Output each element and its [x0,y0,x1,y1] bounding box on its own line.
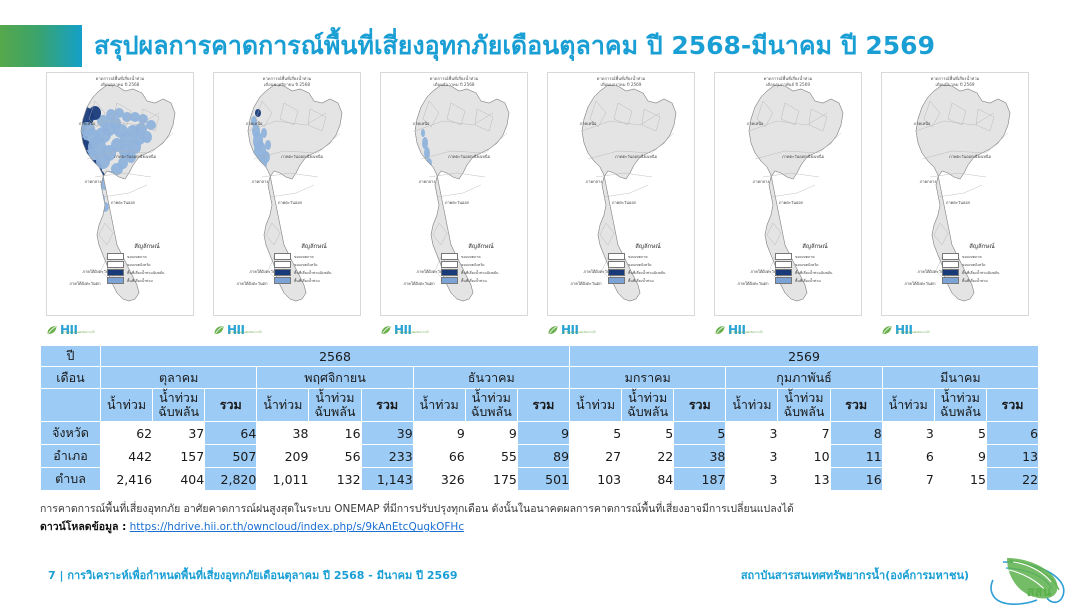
map-legend-row-1: ขอบเขตภาค [441,253,521,260]
map-legend-label-3: พื้นที่เสี่ยงน้ำท่วมฉับพลัน [962,270,999,276]
svg-text:ภาคใต้ฝั่งตะวันตก: ภาคใต้ฝั่งตะวันตก [236,281,268,286]
table-metric-header-1: น้ำท่วม [101,389,153,422]
map-legend-swatch-4 [775,277,792,284]
table-cell-r1-c8: 9 [465,422,517,445]
map-title-line1-6: คาดการณ์พื้นที่เสี่ยงน้ำท่วม [931,76,980,82]
hii-leaf-icon-2 [213,324,225,336]
hii-logo-5: HII สถาบันสารสนเทศทรัพยากรน้ำ [714,324,745,336]
map-legend-swatch-4 [107,277,124,284]
map-title-line1-3: คาดการณ์พื้นที่เสี่ยงน้ำท่วม [430,76,479,82]
map-legend-swatch-3 [274,269,291,276]
map-legend-label-4: พื้นที่เสี่ยงน้ำท่วม [127,278,153,284]
table-cell-r1-c10: 5 [570,422,622,445]
table-cell-r3-c16: 7 [882,468,934,491]
table-cell-r3-c12: 187 [674,468,726,491]
table-cell-r1-c11: 5 [622,422,674,445]
map-legend-label-3: พื้นที่เสี่ยงน้ำท่วมฉับพลัน [795,270,832,276]
map-title-line2-1: เดือนตุลาคม ปี 2568 [96,82,145,88]
table-metric-header-9: รวม [517,389,569,422]
hii-logo-1: HII สถาบันสารสนเทศทรัพยากรน้ำ [46,324,77,336]
table-cell-r1-c6: 39 [361,422,413,445]
hii-leaf-icon-3 [380,324,392,336]
map-title-line2-4: เดือนมกราคม ปี 2569 [597,82,646,88]
map-legend-label-2: ขอบเขตจังหวัด [294,262,318,268]
map-legend-title-4: สัญลักษณ์ [608,241,688,251]
map-legend-label-2: ขอบเขตจังหวัด [628,262,652,268]
table-cell-r3-c5: 132 [309,468,361,491]
table-metric-header-3: รวม [205,389,257,422]
map-panel-strip: ภาคเหนือภาคตะวันออกเฉียงเหนือภาคกลางภาคต… [38,70,1040,342]
table-metric-header-14: น้ำท่วมฉับพลัน [778,389,830,422]
table-cell-r2-c2: 157 [153,445,205,468]
map-legend-3: สัญลักษณ์ ขอบเขตภาค ขอบเขตจังหวัด พื้นที… [441,241,521,285]
table-cell-r1-c9: 9 [517,422,569,445]
table-row-label-3: ตำบล [41,468,101,491]
table-row-label-1: จังหวัด [41,422,101,445]
svg-text:ภาคเหนือ: ภาคเหนือ [914,121,931,126]
map-legend-label-4: พื้นที่เสี่ยงน้ำท่วม [962,278,988,284]
map-legend-label-2: ขอบเขตจังหวัด [795,262,819,268]
table-year-header-2569: 2569 [570,346,1039,367]
map-legend-row-3: พื้นที่เสี่ยงน้ำท่วมฉับพลัน [107,269,187,276]
map-legend-swatch-4 [274,277,291,284]
hii-leaf-icon-4 [547,324,559,336]
table-month-header-2: พฤศจิกายน [257,367,413,389]
table-year-header-2568: 2568 [101,346,570,367]
table-cell-r2-c7: 66 [413,445,465,468]
map-title-line1-1: คาดการณ์พื้นที่เสี่ยงน้ำท่วม [96,76,145,82]
map-legend-swatch-1 [608,253,625,260]
table-metric-header-6: รวม [361,389,413,422]
table-cell-r3-c10: 103 [570,468,622,491]
table-metric-header-13: น้ำท่วม [726,389,778,422]
map-legend-row-2: ขอบเขตจังหวัด [775,261,855,268]
map-legend-label-3: พื้นที่เสี่ยงน้ำท่วมฉับพลัน [628,270,665,276]
table-metric-header-4: น้ำท่วม [257,389,309,422]
map-legend-swatch-2 [107,261,124,268]
svg-text:ภาคตะวันออก: ภาคตะวันออก [111,200,136,205]
map-panel-3: ภาคเหนือภาคตะวันออกเฉียงเหนือภาคกลางภาคต… [372,70,532,342]
map-frame-4: ภาคเหนือภาคตะวันออกเฉียงเหนือภาคกลางภาคต… [547,72,695,316]
remark-text: การคาดการณ์พื้นที่เสี่ยงอุทกภัย อาศัยคาด… [40,500,794,517]
map-title-4: คาดการณ์พื้นที่เสี่ยงน้ำท่วม เดือนมกราคม… [597,76,646,87]
table-month-header-4: มกราคม [570,367,726,389]
map-legend-label-3: พื้นที่เสี่ยงน้ำท่วมฉับพลัน [294,270,331,276]
table-cell-r2-c10: 27 [570,445,622,468]
map-legend-swatch-2 [441,261,458,268]
map-legend-row-4: พื้นที่เสี่ยงน้ำท่วม [775,277,855,284]
table-cell-r2-c13: 3 [726,445,778,468]
table-month-header-5: กุมภาพันธ์ [726,367,882,389]
table-cell-r2-c4: 209 [257,445,309,468]
table-cell-r2-c17: 9 [934,445,986,468]
map-legend-swatch-3 [107,269,124,276]
svg-text:ภาคตะวันออกเฉียงเหนือ: ภาคตะวันออกเฉียงเหนือ [448,154,491,159]
table-cell-r1-c5: 16 [309,422,361,445]
map-legend-swatch-3 [608,269,625,276]
table-metric-header-8: น้ำท่วมฉับพลัน [465,389,517,422]
table-cell-r3-c14: 13 [778,468,830,491]
map-title-3: คาดการณ์พื้นที่เสี่ยงน้ำท่วม เดือนธันวาค… [430,76,479,87]
map-title-line1-2: คาดการณ์พื้นที่เสี่ยงน้ำท่วม [263,76,312,82]
table-metric-header-10: น้ำท่วม [570,389,622,422]
map-legend-swatch-2 [775,261,792,268]
map-legend-swatch-1 [441,253,458,260]
table-cell-r1-c18: 6 [986,422,1038,445]
map-legend-swatch-2 [608,261,625,268]
table-cell-r3-c6: 1,143 [361,468,413,491]
table-corner-blank [41,389,101,422]
svg-text:ภาคกลาง: ภาคกลาง [419,179,436,184]
map-legend-swatch-1 [107,253,124,260]
map-legend-row-4: พื้นที่เสี่ยงน้ำท่วม [942,277,1022,284]
svg-text:ภาคตะวันออกเฉียงเหนือ: ภาคตะวันออกเฉียงเหนือ [281,154,324,159]
footer-organization-label: สถาบันสารสนเทศทรัพยากรน้ำ(องค์การมหาชน) [741,566,969,584]
hii-leaf-icon-5 [714,324,726,336]
map-legend-row-2: ขอบเขตจังหวัด [942,261,1022,268]
table-head: ปี25682569 เดือนตุลาคมพฤศจิกายนธันวาคมมก… [41,346,1039,422]
map-legend-title-3: สัญลักษณ์ [441,241,521,251]
map-legend-row-1: ขอบเขตภาค [942,253,1022,260]
map-legend-row-3: พื้นที่เสี่ยงน้ำท่วมฉับพลัน [441,269,521,276]
map-legend-swatch-3 [441,269,458,276]
table-cell-r1-c15: 8 [830,422,882,445]
hii-logo-6: HII สถาบันสารสนเทศทรัพยากรน้ำ [881,324,912,336]
table-cell-r2-c5: 56 [309,445,361,468]
map-title-line2-2: เดือนพฤศจิกายน ปี 2568 [263,82,312,88]
table-row: อำเภอ44215750720956233665589272238310116… [41,445,1039,468]
table-cell-r2-c14: 10 [778,445,830,468]
map-frame-5: ภาคเหนือภาคตะวันออกเฉียงเหนือภาคกลางภาคต… [714,72,862,316]
map-legend-label-1: ขอบเขตภาค [795,254,815,260]
table-cell-r1-c16: 3 [882,422,934,445]
map-panel-2: ภาคเหนือภาคตะวันออกเฉียงเหนือภาคกลางภาคต… [205,70,365,342]
map-title-1: คาดการณ์พื้นที่เสี่ยงน้ำท่วม เดือนตุลาคม… [96,76,145,87]
title-accent-swatch [0,25,82,67]
hii-logo-subtext-1: สถาบันสารสนเทศทรัพยากรน้ำ [61,331,95,335]
map-legend-label-4: พื้นที่เสี่ยงน้ำท่วม [795,278,821,284]
map-frame-1: ภาคเหนือภาคตะวันออกเฉียงเหนือภาคกลางภาคต… [46,72,194,316]
table-month-header-3: ธันวาคม [413,367,569,389]
table-cell-r3-c3: 2,820 [205,468,257,491]
table-metric-header-5: น้ำท่วมฉับพลัน [309,389,361,422]
map-title-2: คาดการณ์พื้นที่เสี่ยงน้ำท่วม เดือนพฤศจิก… [263,76,312,87]
map-legend-label-3: พื้นที่เสี่ยงน้ำท่วมฉับพลัน [127,270,164,276]
map-legend-row-3: พื้นที่เสี่ยงน้ำท่วมฉับพลัน [942,269,1022,276]
table-metric-header-17: น้ำท่วมฉับพลัน [934,389,986,422]
table-cell-r3-c9: 501 [517,468,569,491]
map-title-line2-6: เดือนมีนาคม ปี 2569 [931,82,980,88]
hii-org-logo: สสน [973,556,1069,606]
table-header-month-row: เดือนตุลาคมพฤศจิกายนธันวาคมมกราคมกุมภาพั… [41,367,1039,389]
map-title-6: คาดการณ์พื้นที่เสี่ยงน้ำท่วม เดือนมีนาคม… [931,76,980,87]
svg-text:ภาคตะวันออก: ภาคตะวันออก [445,200,470,205]
map-panel-1: ภาคเหนือภาคตะวันออกเฉียงเหนือภาคกลางภาคต… [38,70,198,342]
summary-table: ปี25682569 เดือนตุลาคมพฤศจิกายนธันวาคมมก… [40,345,1039,491]
map-legend-label-4: พื้นที่เสี่ยงน้ำท่วม [461,278,487,284]
table-cell-r1-c14: 7 [778,422,830,445]
footer-divider [0,556,1077,557]
map-legend-row-2: ขอบเขตจังหวัด [441,261,521,268]
map-legend-swatch-2 [274,261,291,268]
map-frame-6: ภาคเหนือภาคตะวันออกเฉียงเหนือภาคกลางภาคต… [881,72,1029,316]
svg-text:ภาคใต้ฝั่งตะวันตก: ภาคใต้ฝั่งตะวันตก [69,281,101,286]
map-legend-label-4: พื้นที่เสี่ยงน้ำท่วม [294,278,320,284]
map-legend-row-1: ขอบเขตภาค [274,253,354,260]
table-cell-r1-c7: 9 [413,422,465,445]
page-title: สรุปผลการคาดการณ์พื้นที่เสี่ยงอุทกภัยเดื… [94,25,935,67]
table-cell-r1-c17: 5 [934,422,986,445]
hii-logo-2: HII สถาบันสารสนเทศทรัพยากรน้ำ [213,324,244,336]
map-legend-row-3: พื้นที่เสี่ยงน้ำท่วมฉับพลัน [775,269,855,276]
table-cell-r3-c11: 84 [622,468,674,491]
map-legend-row-3: พื้นที่เสี่ยงน้ำท่วมฉับพลัน [274,269,354,276]
table-cell-r1-c12: 5 [674,422,726,445]
map-legend-label-2: ขอบเขตจังหวัด [962,262,986,268]
table-cell-r2-c6: 233 [361,445,413,468]
svg-text:ภาคตะวันออกเฉียงเหนือ: ภาคตะวันออกเฉียงเหนือ [782,154,825,159]
map-legend-swatch-2 [942,261,959,268]
download-line: ดาวน์โหลดข้อมูล : https://hdrive.hii.or.… [40,518,464,535]
map-legend-swatch-4 [608,277,625,284]
hii-leaf-icon-6 [881,324,893,336]
map-legend-label-1: ขอบเขตภาค [461,254,481,260]
hii-logo-subtext-3: สถาบันสารสนเทศทรัพยากรน้ำ [395,331,429,335]
table-cell-r2-c3: 507 [205,445,257,468]
map-legend-5: สัญลักษณ์ ขอบเขตภาค ขอบเขตจังหวัด พื้นที… [775,241,855,285]
map-legend-row-2: ขอบเขตจังหวัด [608,261,688,268]
table-row: ตำบล2,4164042,8201,0111321,1433261755011… [41,468,1039,491]
table-metric-header-16: น้ำท่วม [882,389,934,422]
table-cell-r2-c18: 13 [986,445,1038,468]
table-cell-r3-c1: 2,416 [101,468,153,491]
map-legend-row-1: ขอบเขตภาค [107,253,187,260]
table-cell-r2-c16: 6 [882,445,934,468]
table-cell-r3-c18: 22 [986,468,1038,491]
table-metric-header-18: รวม [986,389,1038,422]
map-legend-label-2: ขอบเขตจังหวัด [461,262,485,268]
map-legend-swatch-3 [942,269,959,276]
table-cell-r1-c3: 64 [205,422,257,445]
map-legend-label-1: ขอบเขตภาค [294,254,314,260]
table-body: จังหวัด623764381639999555378356อำเภอ4421… [41,422,1039,491]
map-legend-title-6: สัญลักษณ์ [942,241,1022,251]
map-legend-label-2: ขอบเขตจังหวัด [127,262,151,268]
svg-text:ภาคเหนือ: ภาคเหนือ [747,121,764,126]
map-legend-2: สัญลักษณ์ ขอบเขตภาค ขอบเขตจังหวัด พื้นที… [274,241,354,285]
map-frame-2: ภาคเหนือภาคตะวันออกเฉียงเหนือภาคกลางภาคต… [213,72,361,316]
table-cell-r1-c2: 37 [153,422,205,445]
map-title-line1-4: คาดการณ์พื้นที่เสี่ยงน้ำท่วม [597,76,646,82]
download-label: ดาวน์โหลดข้อมูล : [40,521,126,533]
map-legend-swatch-3 [775,269,792,276]
hii-logo-4: HII สถาบันสารสนเทศทรัพยากรน้ำ [547,324,578,336]
svg-text:ภาคเหนือ: ภาคเหนือ [79,121,96,126]
map-legend-row-4: พื้นที่เสี่ยงน้ำท่วม [107,277,187,284]
map-title-5: คาดการณ์พื้นที่เสี่ยงน้ำท่วม เดือนกุมภาพ… [764,76,813,87]
table-cell-r3-c8: 175 [465,468,517,491]
map-legend-6: สัญลักษณ์ ขอบเขตภาค ขอบเขตจังหวัด พื้นที… [942,241,1022,285]
table-metric-header-2: น้ำท่วมฉับพลัน [153,389,205,422]
map-legend-4: สัญลักษณ์ ขอบเขตภาค ขอบเขตจังหวัด พื้นที… [608,241,688,285]
table-corner-year: ปี [41,346,101,367]
table-month-header-6: มีนาคม [882,367,1038,389]
svg-text:ภาคเหนือ: ภาคเหนือ [246,121,263,126]
svg-text:ภาคเหนือ: ภาคเหนือ [413,121,430,126]
map-legend-label-3: พื้นที่เสี่ยงน้ำท่วมฉับพลัน [461,270,498,276]
hii-logo-3: HII สถาบันสารสนเทศทรัพยากรน้ำ [380,324,411,336]
table-row: จังหวัด623764381639999555378356 [41,422,1039,445]
svg-text:ภาคกลาง: ภาคกลาง [252,179,269,184]
svg-text:ภาคกลาง: ภาคกลาง [85,179,102,184]
map-legend-title-1: สัญลักษณ์ [107,241,187,251]
map-frame-3: ภาคเหนือภาคตะวันออกเฉียงเหนือภาคกลางภาคต… [380,72,528,316]
map-legend-row-1: ขอบเขตภาค [775,253,855,260]
svg-text:ภาคใต้ฝั่งตะวันตก: ภาคใต้ฝั่งตะวันตก [737,281,769,286]
map-panel-4: ภาคเหนือภาคตะวันออกเฉียงเหนือภาคกลางภาคต… [539,70,699,342]
svg-text:ภาคเหนือ: ภาคเหนือ [580,121,597,126]
table-cell-r2-c11: 22 [622,445,674,468]
table-header-year-row: ปี25682569 [41,346,1039,367]
table-month-header-1: ตุลาคม [101,367,257,389]
map-legend-swatch-4 [441,277,458,284]
map-legend-label-4: พื้นที่เสี่ยงน้ำท่วม [628,278,654,284]
map-legend-swatch-1 [942,253,959,260]
svg-text:ภาคใต้ฝั่งตะวันตก: ภาคใต้ฝั่งตะวันตก [904,281,936,286]
title-bar: สรุปผลการคาดการณ์พื้นที่เสี่ยงอุทกภัยเดื… [0,25,1077,67]
map-legend-row-3: พื้นที่เสี่ยงน้ำท่วมฉับพลัน [608,269,688,276]
svg-text:ภาคตะวันออก: ภาคตะวันออก [278,200,303,205]
map-legend-row-4: พื้นที่เสี่ยงน้ำท่วม [441,277,521,284]
table-header-metric-row: น้ำท่วมน้ำท่วมฉับพลันรวมน้ำท่วมน้ำท่วมฉั… [41,389,1039,422]
map-title-line2-3: เดือนธันวาคม ปี 2568 [430,82,479,88]
map-title-line2-5: เดือนกุมภาพันธ์ ปี 2569 [764,82,813,88]
table-cell-r1-c4: 38 [257,422,309,445]
map-panel-5: ภาคเหนือภาคตะวันออกเฉียงเหนือภาคกลางภาคต… [706,70,866,342]
table-cell-r3-c13: 3 [726,468,778,491]
table-row-label-2: อำเภอ [41,445,101,468]
footer-logo-text: สสน [1027,585,1052,600]
table-cell-r2-c1: 442 [101,445,153,468]
table-metric-header-15: รวม [830,389,882,422]
table-cell-r3-c2: 404 [153,468,205,491]
map-title-line1-5: คาดการณ์พื้นที่เสี่ยงน้ำท่วม [764,76,813,82]
table-cell-r2-c12: 38 [674,445,726,468]
map-legend-swatch-4 [942,277,959,284]
table-cell-r3-c7: 326 [413,468,465,491]
map-legend-label-1: ขอบเขตภาค [127,254,147,260]
map-legend-row-4: พื้นที่เสี่ยงน้ำท่วม [274,277,354,284]
map-legend-label-1: ขอบเขตภาค [628,254,648,260]
table-metric-header-7: น้ำท่วม [413,389,465,422]
svg-text:ภาคใต้ฝั่งตะวันตก: ภาคใต้ฝั่งตะวันตก [403,281,435,286]
hii-logo-subtext-4: สถาบันสารสนเทศทรัพยากรน้ำ [562,331,596,335]
hii-logo-subtext-6: สถาบันสารสนเทศทรัพยากรน้ำ [896,331,930,335]
map-legend-title-2: สัญลักษณ์ [274,241,354,251]
table-corner-month: เดือน [41,367,101,389]
table-cell-r2-c9: 89 [517,445,569,468]
table-cell-r3-c15: 16 [830,468,882,491]
map-legend-row-2: ขอบเขตจังหวัด [107,261,187,268]
svg-text:ภาคตะวันออกเฉียงเหนือ: ภาคตะวันออกเฉียงเหนือ [615,154,658,159]
svg-text:ภาคกลาง: ภาคกลาง [920,179,937,184]
table-cell-r1-c1: 62 [101,422,153,445]
svg-text:ภาคตะวันออกเฉียงเหนือ: ภาคตะวันออกเฉียงเหนือ [114,154,157,159]
hii-logo-subtext-5: สถาบันสารสนเทศทรัพยากรน้ำ [729,331,763,335]
table-cell-r2-c8: 55 [465,445,517,468]
map-legend-swatch-1 [274,253,291,260]
svg-text:ภาคตะวันออกเฉียงเหนือ: ภาคตะวันออกเฉียงเหนือ [949,154,992,159]
map-legend-1: สัญลักษณ์ ขอบเขตภาค ขอบเขตจังหวัด พื้นที… [107,241,187,285]
table-cell-r2-c15: 11 [830,445,882,468]
map-legend-swatch-1 [775,253,792,260]
svg-text:ภาคตะวันออก: ภาคตะวันออก [779,200,804,205]
svg-text:ภาคกลาง: ภาคกลาง [753,179,770,184]
map-panel-6: ภาคเหนือภาคตะวันออกเฉียงเหนือภาคกลางภาคต… [873,70,1033,342]
map-legend-title-5: สัญลักษณ์ [775,241,855,251]
footer-page-label: 7 | การวิเคราะห์เพื่อกำหนดพื้นที่เสี่ยงอ… [48,566,458,584]
svg-text:ภาคตะวันออก: ภาคตะวันออก [946,200,971,205]
table-cell-r3-c17: 15 [934,468,986,491]
hii-logo-subtext-2: สถาบันสารสนเทศทรัพยากรน้ำ [228,331,262,335]
table-metric-header-11: น้ำท่วมฉับพลัน [622,389,674,422]
map-legend-label-1: ขอบเขตภาค [962,254,982,260]
download-link[interactable]: https://hdrive.hii.or.th/owncloud/index.… [130,521,464,533]
table-cell-r3-c4: 1,011 [257,468,309,491]
map-legend-row-4: พื้นที่เสี่ยงน้ำท่วม [608,277,688,284]
map-legend-row-1: ขอบเขตภาค [608,253,688,260]
svg-text:ภาคตะวันออก: ภาคตะวันออก [612,200,637,205]
hii-leaf-icon-1 [46,324,58,336]
map-legend-row-2: ขอบเขตจังหวัด [274,261,354,268]
table-metric-header-12: รวม [674,389,726,422]
svg-text:ภาคกลาง: ภาคกลาง [586,179,603,184]
table-cell-r1-c13: 3 [726,422,778,445]
svg-text:ภาคใต้ฝั่งตะวันตก: ภาคใต้ฝั่งตะวันตก [570,281,602,286]
